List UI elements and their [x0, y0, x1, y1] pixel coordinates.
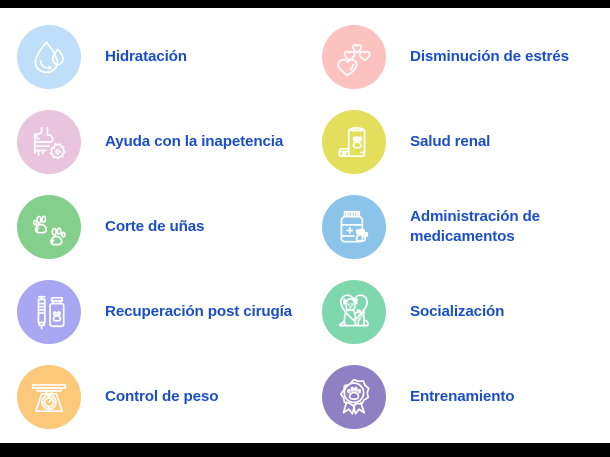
service-item-disminucion-de-estres[interactable]: Disminución de estrés: [322, 14, 610, 99]
service-label: Socialización: [410, 302, 504, 321]
letterbox-top: [0, 0, 610, 8]
medicine-bottle-paw-icon-badge: [322, 195, 386, 259]
syringe-vial-icon: [28, 291, 70, 333]
service-item-corte-de-unas[interactable]: Corte de uñas: [17, 184, 305, 269]
service-label: Ayuda con la inapetencia: [105, 132, 283, 151]
service-label: Salud renal: [410, 132, 490, 151]
service-item-control-de-peso[interactable]: Control de peso: [17, 354, 305, 439]
medicine-bottle-paw-icon: [333, 206, 375, 248]
services-grid: Hidratación: [0, 8, 610, 443]
award-medal-paw-icon-badge: [322, 365, 386, 429]
left-column: Hidratación: [0, 8, 305, 443]
pet-food-bag-icon-badge: [322, 110, 386, 174]
intestine-icon-badge: [17, 110, 81, 174]
service-label: Entrenamiento: [410, 387, 514, 406]
dog-cat-heart-icon: [333, 291, 375, 333]
paw-prints-icon-badge: [17, 195, 81, 259]
water-drop-icon: [28, 36, 70, 78]
service-item-salud-renal[interactable]: Salud renal: [322, 99, 610, 184]
letterbox-bottom: [0, 443, 610, 457]
water-drop-icon-badge: [17, 25, 81, 89]
kitchen-scale-icon: [28, 376, 70, 418]
service-item-inapetencia[interactable]: Ayuda con la inapetencia: [17, 99, 305, 184]
intestine-icon: [28, 121, 70, 163]
service-label: Corte de uñas: [105, 217, 204, 236]
dog-cat-heart-icon-badge: [322, 280, 386, 344]
service-label: Recuperación post cirugía: [105, 302, 292, 321]
service-label: Control de peso: [105, 387, 218, 406]
service-item-post-cirugia[interactable]: Recuperación post cirugía: [17, 269, 305, 354]
service-label: Disminución de estrés: [410, 47, 569, 66]
service-item-socializacion[interactable]: Socialización: [322, 269, 610, 354]
pet-food-bag-icon: [333, 121, 375, 163]
service-item-administracion-de-medicamentos[interactable]: Administración de medicamentos: [322, 184, 610, 269]
service-label: Administración de medicamentos: [410, 207, 610, 245]
service-item-hidratacion[interactable]: Hidratación: [17, 14, 305, 99]
award-medal-paw-icon: [333, 376, 375, 418]
content-area: Hidratación: [0, 8, 610, 443]
poster-canvas: Hidratación: [0, 0, 610, 457]
kitchen-scale-icon-badge: [17, 365, 81, 429]
hearts-icon-badge: [322, 25, 386, 89]
syringe-vial-icon-badge: [17, 280, 81, 344]
right-column: Disminución de estrés: [305, 8, 610, 443]
service-label: Hidratación: [105, 47, 187, 66]
service-item-entrenamiento[interactable]: Entrenamiento: [322, 354, 610, 439]
paw-prints-icon: [28, 206, 70, 248]
hearts-icon: [333, 36, 375, 78]
